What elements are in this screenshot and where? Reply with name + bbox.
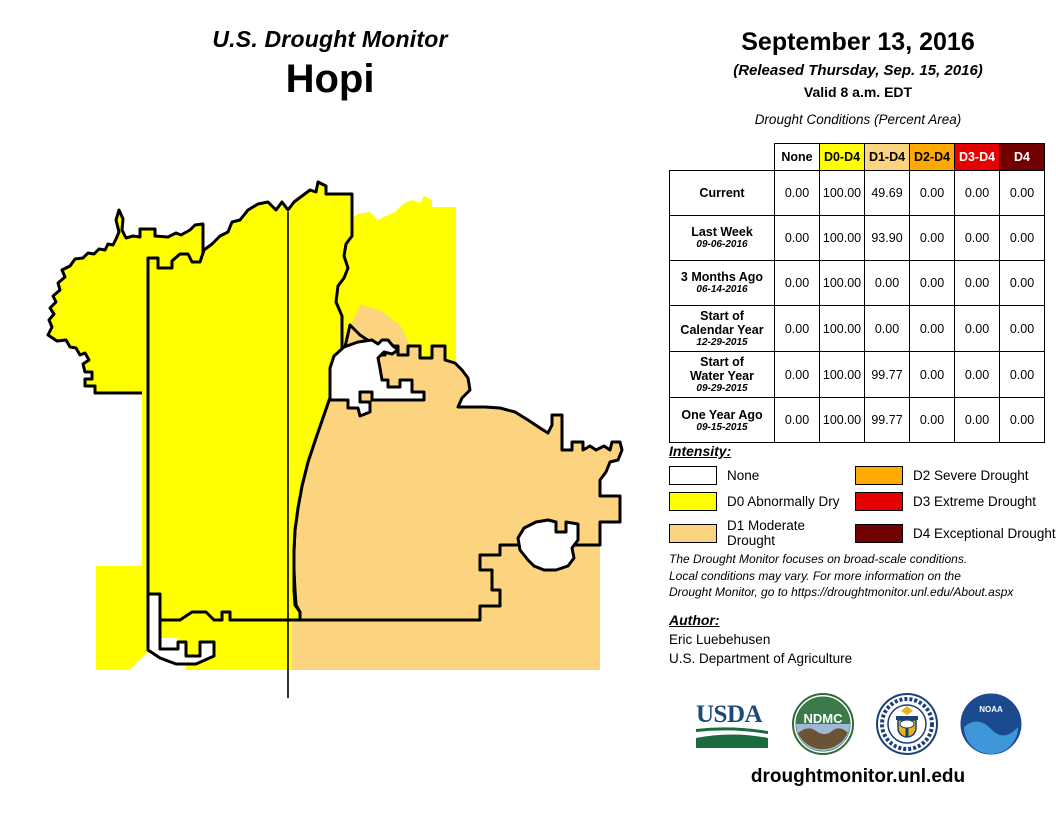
table-cell-d2-d4: 0.00 [910, 398, 955, 443]
site-url[interactable]: droughtmonitor.unl.edu [660, 766, 1056, 788]
author-title: Author: [669, 612, 1049, 628]
table-header-row: None D0-D4 D1-D4 D2-D4 D3-D4 D4 [670, 144, 1045, 171]
table-cell-d2-d4: 0.00 [910, 352, 955, 398]
row-label-date: 09-15-2015 [672, 422, 772, 433]
table-cell-d2-d4: 0.00 [910, 306, 955, 352]
column-header-d4: D4 [1000, 144, 1045, 171]
author-name: Eric Luebehusen [669, 632, 1049, 647]
row-label: Current [670, 171, 775, 216]
table-row: Start ofCalendar Year12-29-20150.00100.0… [670, 306, 1045, 352]
table-cell-d0-d4: 100.00 [820, 352, 865, 398]
commerce-seal [876, 693, 938, 755]
table-cell-d2-d4: 0.00 [910, 216, 955, 261]
release-date: (Released Thursday, Sep. 15, 2016) [660, 62, 1056, 79]
header-spacer [670, 144, 775, 171]
legend-item[interactable]: D1 Moderate Drought [669, 518, 855, 548]
row-label: One Year Ago09-15-2015 [670, 398, 775, 443]
table-cell-d0-d4: 100.00 [820, 398, 865, 443]
legend-swatch [855, 524, 903, 543]
row-label-text: Calendar Year [672, 323, 772, 337]
row-label-text: Start of [672, 355, 772, 369]
column-header-d3-d4: D3-D4 [955, 144, 1000, 171]
row-label-text: Water Year [672, 369, 772, 383]
row-label-text: 3 Months Ago [672, 270, 772, 284]
table-cell-d1-d4: 0.00 [865, 306, 910, 352]
svg-text:NDMC: NDMC [804, 711, 844, 726]
table-cell-d4: 0.00 [1000, 171, 1045, 216]
table-cell-d4: 0.00 [1000, 306, 1045, 352]
table-cell-d1-d4: 99.77 [865, 398, 910, 443]
svg-text:NOAA: NOAA [979, 705, 1003, 714]
legend-item[interactable]: D2 Severe Drought [855, 466, 1056, 485]
disclaimer: The Drought Monitor focuses on broad-sca… [669, 551, 1049, 601]
intensity-legend: Intensity: NoneD2 Severe DroughtD0 Abnor… [669, 443, 1056, 548]
table-cell-d1-d4: 0.00 [865, 261, 910, 306]
table-cell-d1-d4: 93.90 [865, 216, 910, 261]
table-cell-d3-d4: 0.00 [955, 306, 1000, 352]
table-cell-d2-d4: 0.00 [910, 261, 955, 306]
disclaimer-line-3: Drought Monitor, go to https://droughtmo… [669, 584, 1049, 601]
table-cell-none: 0.00 [775, 171, 820, 216]
table-cell-none: 0.00 [775, 398, 820, 443]
legend-swatch [855, 466, 903, 485]
column-header-d0-d4: D0-D4 [820, 144, 865, 171]
region-title: Hopi [0, 59, 660, 99]
svg-text:USDA: USDA [696, 701, 763, 728]
legend-label: D3 Extreme Drought [913, 494, 1036, 509]
table-cell-d0-d4: 100.00 [820, 306, 865, 352]
row-label-text: Start of [672, 309, 772, 323]
table-cell-none: 0.00 [775, 261, 820, 306]
table-cell-d3-d4: 0.00 [955, 398, 1000, 443]
row-label-text: Last Week [672, 225, 772, 239]
legend-label: D2 Severe Drought [913, 468, 1029, 483]
usda-logo: USDA [694, 698, 770, 750]
row-label-date: 09-29-2015 [672, 383, 772, 394]
table-cell-d0-d4: 100.00 [820, 171, 865, 216]
title-block: U.S. Drought Monitor Hopi [0, 26, 660, 99]
table-cell-d2-d4: 0.00 [910, 171, 955, 216]
map-panel: U.S. Drought Monitor Hopi [0, 0, 660, 816]
legend-item[interactable]: None [669, 466, 855, 485]
table-row: One Year Ago09-15-20150.00100.0099.770.0… [670, 398, 1045, 443]
table-row: 3 Months Ago06-14-20160.00100.000.000.00… [670, 261, 1045, 306]
legend-swatch [669, 492, 717, 511]
row-label-date: 12-29-2015 [672, 337, 772, 348]
table-cell-none: 0.00 [775, 216, 820, 261]
author-org: U.S. Department of Agriculture [669, 651, 1049, 666]
table-caption: Drought Conditions (Percent Area) [660, 112, 1056, 127]
column-header-d2-d4: D2-D4 [910, 144, 955, 171]
intensity-legend-title: Intensity: [669, 443, 1056, 459]
legend-swatch [855, 492, 903, 511]
table-row: Current0.00100.0049.690.000.000.00 [670, 171, 1045, 216]
row-label-date: 09-06-2016 [672, 239, 772, 250]
table-body: Current0.00100.0049.690.000.000.00Last W… [670, 171, 1045, 443]
disclaimer-line-2: Local conditions may vary. For more info… [669, 568, 1049, 585]
page-title: U.S. Drought Monitor [0, 26, 660, 53]
table-cell-d3-d4: 0.00 [955, 352, 1000, 398]
table-row: Last Week09-06-20160.00100.0093.900.000.… [670, 216, 1045, 261]
table-cell-d3-d4: 0.00 [955, 171, 1000, 216]
column-header-d1-d4: D1-D4 [865, 144, 910, 171]
table-cell-none: 0.00 [775, 352, 820, 398]
legend-swatch [669, 466, 717, 485]
legend-item[interactable]: D3 Extreme Drought [855, 492, 1056, 511]
table-cell-d4: 0.00 [1000, 261, 1045, 306]
legend-item[interactable]: D0 Abnormally Dry [669, 492, 855, 511]
table-row: Start ofWater Year09-29-20150.00100.0099… [670, 352, 1045, 398]
right-panel: September 13, 2016 (Released Thursday, S… [660, 0, 1056, 816]
table-cell-d3-d4: 0.00 [955, 216, 1000, 261]
date-block: September 13, 2016 (Released Thursday, S… [660, 0, 1056, 100]
legend-label: D4 Exceptional Drought [913, 526, 1056, 541]
legend-grid: NoneD2 Severe DroughtD0 Abnormally DryD3… [669, 466, 1056, 548]
valid-time: Valid 8 a.m. EDT [660, 84, 1056, 100]
table-cell-d4: 0.00 [1000, 352, 1045, 398]
legend-label: D1 Moderate Drought [727, 518, 855, 548]
table-cell-d1-d4: 99.77 [865, 352, 910, 398]
row-label: Start ofCalendar Year12-29-2015 [670, 306, 775, 352]
ndmc-logo: NDMC [792, 693, 854, 755]
legend-label: None [727, 468, 759, 483]
table-cell-none: 0.00 [775, 306, 820, 352]
issue-date: September 13, 2016 [660, 28, 1056, 57]
row-label: Start ofWater Year09-29-2015 [670, 352, 775, 398]
row-label-text: One Year Ago [672, 408, 772, 422]
table-cell-d0-d4: 100.00 [820, 261, 865, 306]
noaa-logo: NOAA [960, 693, 1022, 755]
drought-map[interactable] [0, 150, 660, 710]
logos-row: USDA NDMC [660, 688, 1056, 760]
column-header-none: None [775, 144, 820, 171]
row-label-text: Current [672, 186, 772, 200]
author-block: Author: Eric Luebehusen U.S. Department … [669, 612, 1049, 666]
table-cell-d0-d4: 100.00 [820, 216, 865, 261]
row-label: Last Week09-06-2016 [670, 216, 775, 261]
drought-conditions-table: None D0-D4 D1-D4 D2-D4 D3-D4 D4 Current0… [669, 143, 1045, 443]
table-cell-d3-d4: 0.00 [955, 261, 1000, 306]
legend-label: D0 Abnormally Dry [727, 494, 840, 509]
row-label: 3 Months Ago06-14-2016 [670, 261, 775, 306]
legend-item[interactable]: D4 Exceptional Drought [855, 518, 1056, 548]
table-cell-d4: 0.00 [1000, 398, 1045, 443]
disclaimer-line-1: The Drought Monitor focuses on broad-sca… [669, 551, 1049, 568]
legend-swatch [669, 524, 717, 543]
table-cell-d4: 0.00 [1000, 216, 1045, 261]
row-label-date: 06-14-2016 [672, 284, 772, 295]
table-cell-d1-d4: 49.69 [865, 171, 910, 216]
